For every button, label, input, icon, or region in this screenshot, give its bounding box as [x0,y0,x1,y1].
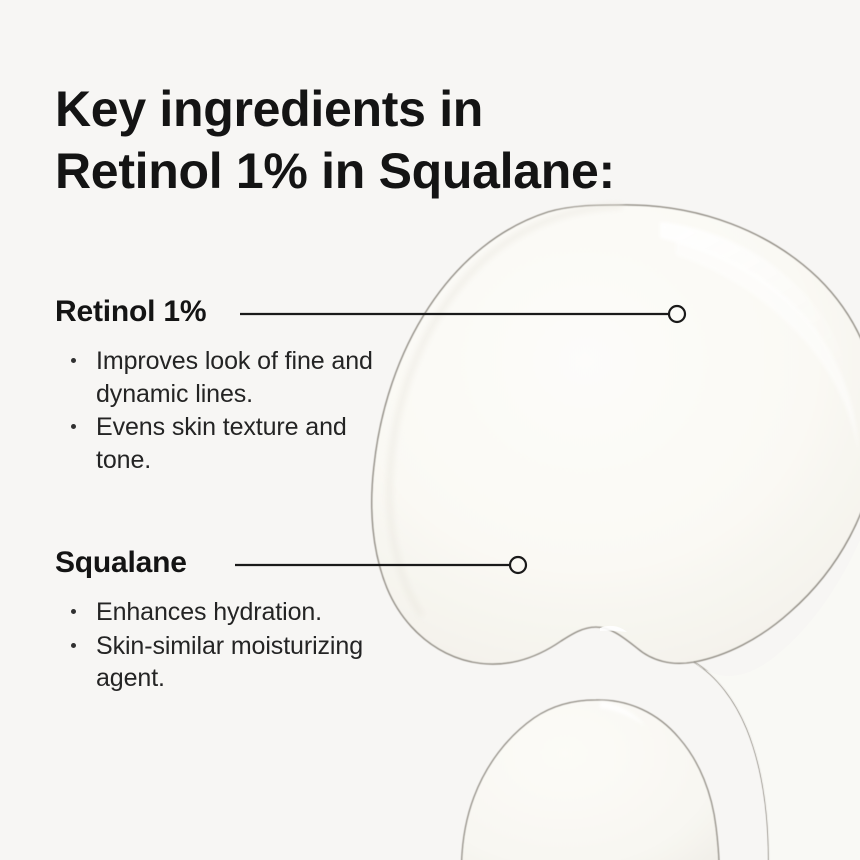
callout-marker-retinol [669,306,685,322]
benefit-list-retinol: Improves look of fine and dynamic lines.… [55,345,385,476]
benefit-item: Skin-similar moisturizing agent. [55,630,385,695]
bullet-dot-icon [71,643,76,648]
callout-marker-squalane [510,557,526,573]
ingredient-name-retinol: Retinol 1% [55,292,385,332]
benefit-item: Evens skin texture and tone. [55,411,385,476]
benefit-item: Enhances hydration. [55,596,385,629]
benefit-text: Enhances hydration. [96,598,322,626]
benefit-item: Improves look of fine and dynamic lines. [55,345,385,410]
benefit-list-squalane: Enhances hydration. Skin-similar moistur… [55,596,385,695]
bullet-dot-icon [71,358,76,363]
benefit-text: Improves look of fine and dynamic lines. [96,347,373,408]
bullet-dot-icon [71,424,76,429]
ingredient-block-retinol: Retinol 1% Improves look of fine and dyn… [55,292,385,477]
benefit-text: Evens skin texture and tone. [96,413,347,474]
ingredient-block-squalane: Squalane Enhances hydration. Skin-simila… [55,543,385,696]
bullet-dot-icon [71,609,76,614]
benefit-text: Skin-similar moisturizing agent. [96,632,363,693]
ingredient-name-squalane: Squalane [55,543,385,583]
ingredient-infographic: Key ingredients in Retinol 1% in Squalan… [0,0,860,860]
